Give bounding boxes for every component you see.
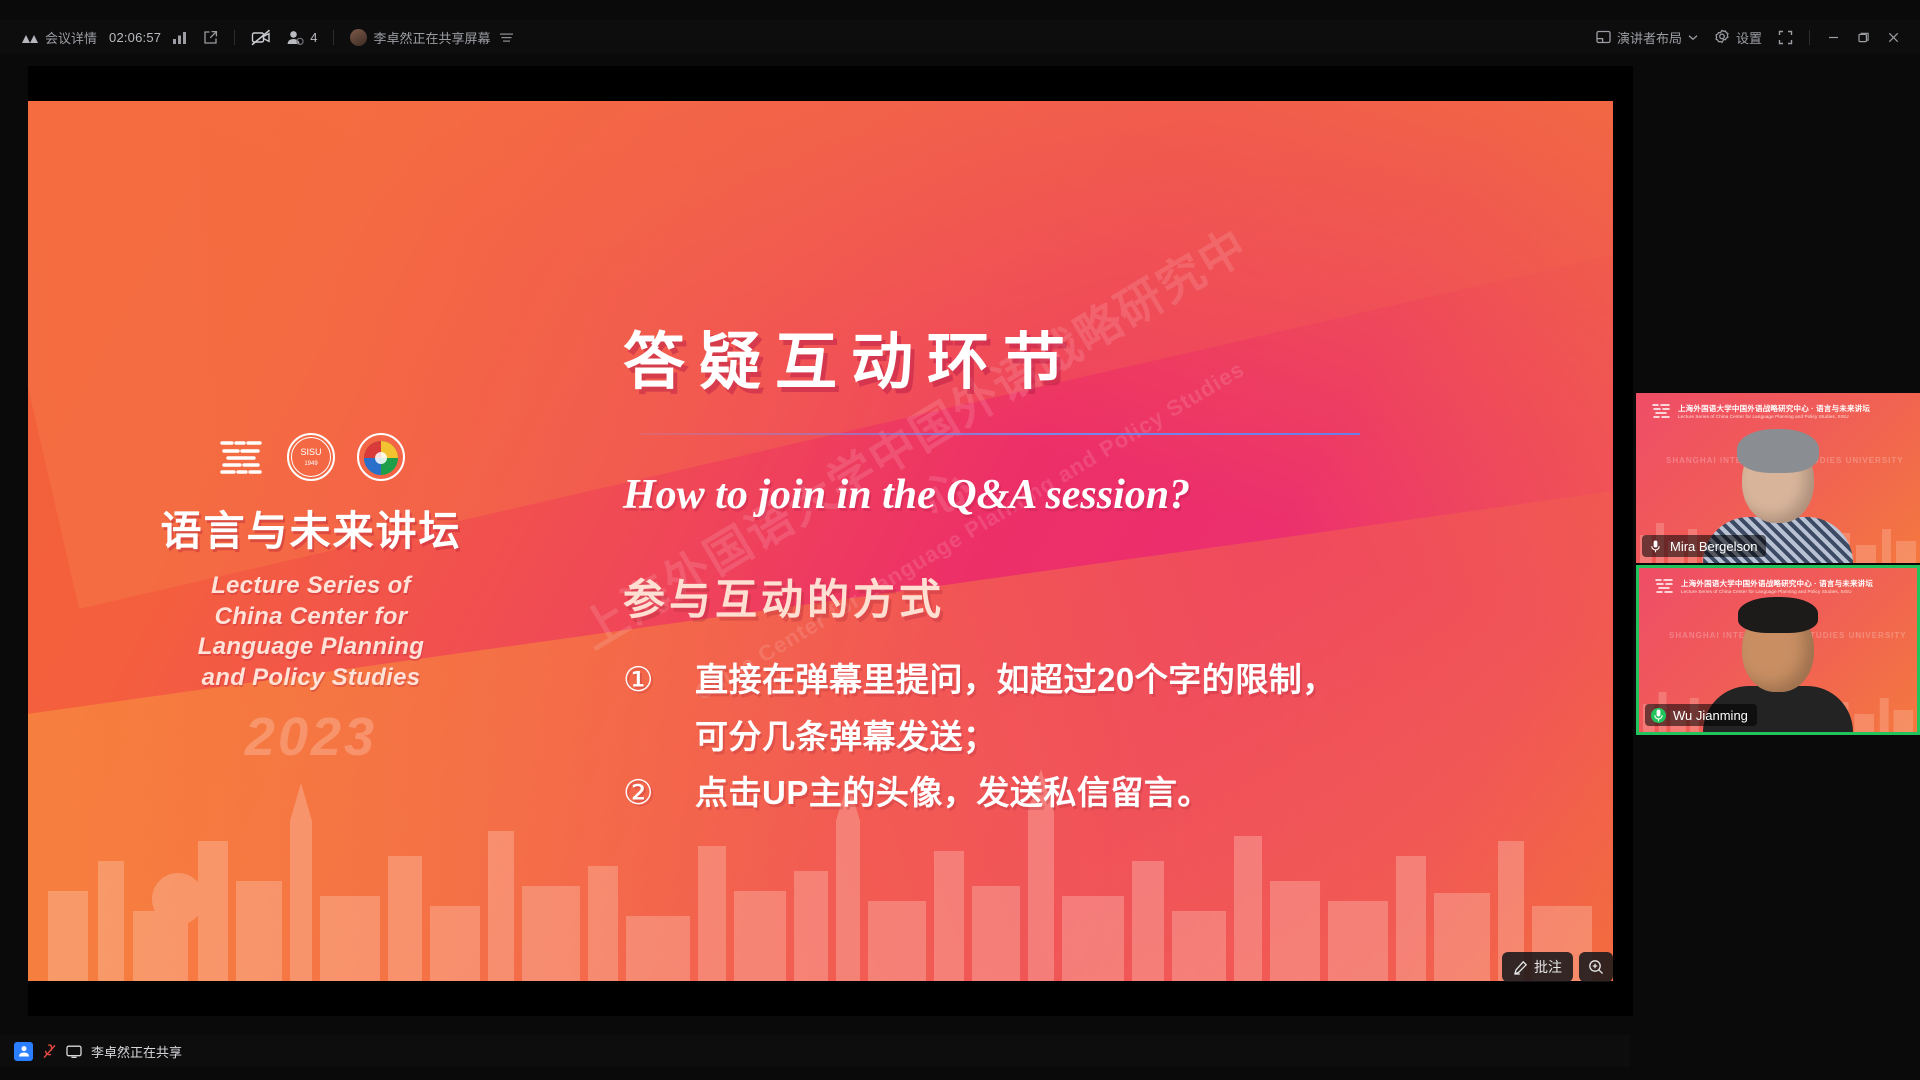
participant-name-badge: Wu Jianming	[1645, 704, 1757, 726]
settings-button[interactable]: 设置	[1706, 24, 1770, 50]
more-options-icon[interactable]	[500, 32, 513, 43]
layout-selector-button[interactable]: 演讲者布局	[1588, 24, 1706, 50]
close-button[interactable]	[1878, 24, 1908, 50]
layout-icon	[1596, 30, 1611, 44]
mic-muted-icon[interactable]	[42, 1044, 57, 1059]
screen-share-stage[interactable]: 上海外国语大学中国外语战略研究中心 China Center for Langu…	[28, 66, 1633, 1016]
network-status-button[interactable]	[165, 24, 195, 50]
brand-year: 2023	[146, 706, 476, 768]
chevron-down-icon	[1688, 34, 1698, 41]
video-banner-cn: 上海外国语大学中国外语战略研究中心 · 语言与未来讲坛	[1681, 578, 1873, 589]
popout-window-button[interactable]	[195, 24, 226, 50]
share-screen-icon[interactable]	[66, 1045, 82, 1058]
bullet-text: 可分几条弹幕发送；	[695, 713, 997, 761]
meeting-details-label: 会议详情	[45, 28, 97, 47]
participant-rail: 上海外国语大学中国外语战略研究中心 · 语言与未来讲坛 Lecture Seri…	[1636, 66, 1920, 1016]
microphone-icon	[1648, 539, 1663, 554]
pen-icon	[1513, 960, 1528, 975]
person-head	[1742, 606, 1814, 692]
brand-title-cn: 语言与未来讲坛	[146, 497, 476, 557]
bullet-text: 点击UP主的头像，发送私信留言。	[695, 769, 1211, 817]
brand-en-line-2: China Center for	[146, 602, 476, 633]
sharing-notice-label: 李卓然正在共享屏幕	[373, 28, 490, 47]
status-text: 李卓然正在共享	[91, 1042, 182, 1061]
person-head	[1742, 437, 1814, 523]
video-banner-cn: 上海外国语大学中国外语战略研究中心 · 语言与未来讲坛	[1678, 403, 1870, 414]
signal-bars-icon	[173, 31, 187, 44]
meeting-details-button[interactable]: 会议详情	[14, 24, 105, 50]
layout-label: 演讲者布局	[1617, 28, 1682, 47]
participant-name: Wu Jianming	[1673, 708, 1748, 723]
camera-toggle-button[interactable]	[243, 24, 279, 50]
fullscreen-button[interactable]	[1770, 24, 1801, 50]
participants-count: 4	[310, 30, 317, 45]
tencent-meeting-logo-icon	[22, 32, 39, 43]
slide-brand-block: SISU 1949 语言与未来讲坛 Lecture Series of	[146, 431, 476, 768]
participant-tile[interactable]: 上海外国语大学中国外语战略研究中心 · 语言与未来讲坛 Lecture Seri…	[1636, 393, 1920, 563]
toolbar-divider	[234, 30, 235, 45]
sharer-avatar	[350, 29, 367, 46]
sisu-crest-logo-icon: SISU 1949	[285, 431, 337, 483]
share-tools-bar: 批注	[1502, 952, 1613, 982]
slide-subtitle-cn: 参与互动的方式	[623, 566, 945, 627]
annotate-label: 批注	[1534, 957, 1562, 977]
bullet-marker: ②	[623, 769, 665, 818]
top-toolbar: 会议详情 02:06:57	[0, 20, 1920, 54]
presentation-slide: 上海外国语大学中国外语战略研究中心 China Center for Langu…	[28, 101, 1613, 981]
video-banner: 上海外国语大学中国外语战略研究中心 · 语言与未来讲坛 Lecture Seri…	[1650, 401, 1914, 421]
participants-button[interactable]: 4	[279, 24, 325, 50]
gear-icon	[1714, 29, 1730, 45]
colorwheel-logo-icon	[355, 431, 407, 483]
svg-text:1949: 1949	[304, 461, 318, 467]
minimize-button[interactable]	[1818, 24, 1848, 50]
external-link-icon	[203, 30, 218, 45]
zoom-button[interactable]	[1579, 952, 1613, 982]
microphone-icon	[1651, 708, 1666, 723]
toolbar-left-group: 会议详情 02:06:57	[0, 24, 521, 50]
participant-tile[interactable]: 上海外国语大学中国外语战略研究中心 · 语言与未来讲坛 Lecture Seri…	[1636, 565, 1920, 735]
meeting-window: 会议详情 02:06:57	[0, 0, 1920, 1080]
sharing-notice[interactable]: 李卓然正在共享屏幕	[342, 24, 521, 50]
brand-en-line-1: Lecture Series of	[146, 571, 476, 602]
list-item: ② 点击UP主的头像，发送私信留言。	[623, 769, 1573, 818]
participant-name: Mira Bergelson	[1670, 539, 1757, 554]
brand-en-line-4: and Policy Studies	[146, 663, 476, 694]
brand-logos: SISU 1949	[146, 431, 476, 483]
brand-title-en: Lecture Series of China Center for Langu…	[146, 571, 476, 694]
fullscreen-icon	[1778, 30, 1793, 45]
annotate-button[interactable]: 批注	[1502, 952, 1573, 982]
toolbar-right-group: 演讲者布局 设置	[1588, 24, 1920, 50]
toolbar-divider-2	[333, 30, 334, 45]
svg-text:SISU: SISU	[300, 447, 321, 457]
slide-bullet-list: ① 直接在弹幕里提问，如超过20个字的限制， 可分几条弹幕发送； ② 点击UP主…	[623, 656, 1573, 826]
person-icon	[14, 1042, 33, 1061]
bottom-status-bar: 李卓然正在共享	[0, 1035, 1630, 1067]
video-banner: 上海外国语大学中国外语战略研究中心 · 语言与未来讲坛 Lecture Seri…	[1653, 576, 1911, 596]
ccl-pps-small-logo-icon	[1650, 401, 1672, 421]
settings-label: 设置	[1736, 28, 1762, 47]
participant-name-badge: Mira Bergelson	[1642, 535, 1766, 557]
brand-en-line-3: Language Planning	[146, 632, 476, 663]
participants-icon	[287, 30, 304, 45]
video-banner-en: Lecture Series of China Center for Langu…	[1678, 414, 1870, 419]
list-item: ① 直接在弹幕里提问，如超过20个字的限制，	[623, 656, 1573, 705]
slide-title-rule	[640, 433, 1360, 435]
ccl-pps-small-logo-icon	[1653, 576, 1675, 596]
bullet-text: 直接在弹幕里提问，如超过20个字的限制，	[695, 656, 1336, 704]
ccl-pps-logo-icon	[215, 431, 267, 483]
magnifier-plus-icon	[1588, 959, 1604, 975]
list-item: 可分几条弹幕发送；	[623, 713, 1573, 761]
bullet-marker: ①	[623, 656, 665, 705]
maximize-button[interactable]	[1848, 24, 1878, 50]
video-banner-en: Lecture Series of China Center for Langu…	[1681, 589, 1873, 594]
slide-title: 答疑互动环节	[623, 311, 1079, 401]
camera-off-icon	[251, 29, 271, 46]
meeting-elapsed-time: 02:06:57	[105, 30, 165, 45]
slide-subtitle-en: How to join in the Q&A session?	[623, 471, 1190, 519]
toolbar-divider-3	[1809, 30, 1810, 45]
